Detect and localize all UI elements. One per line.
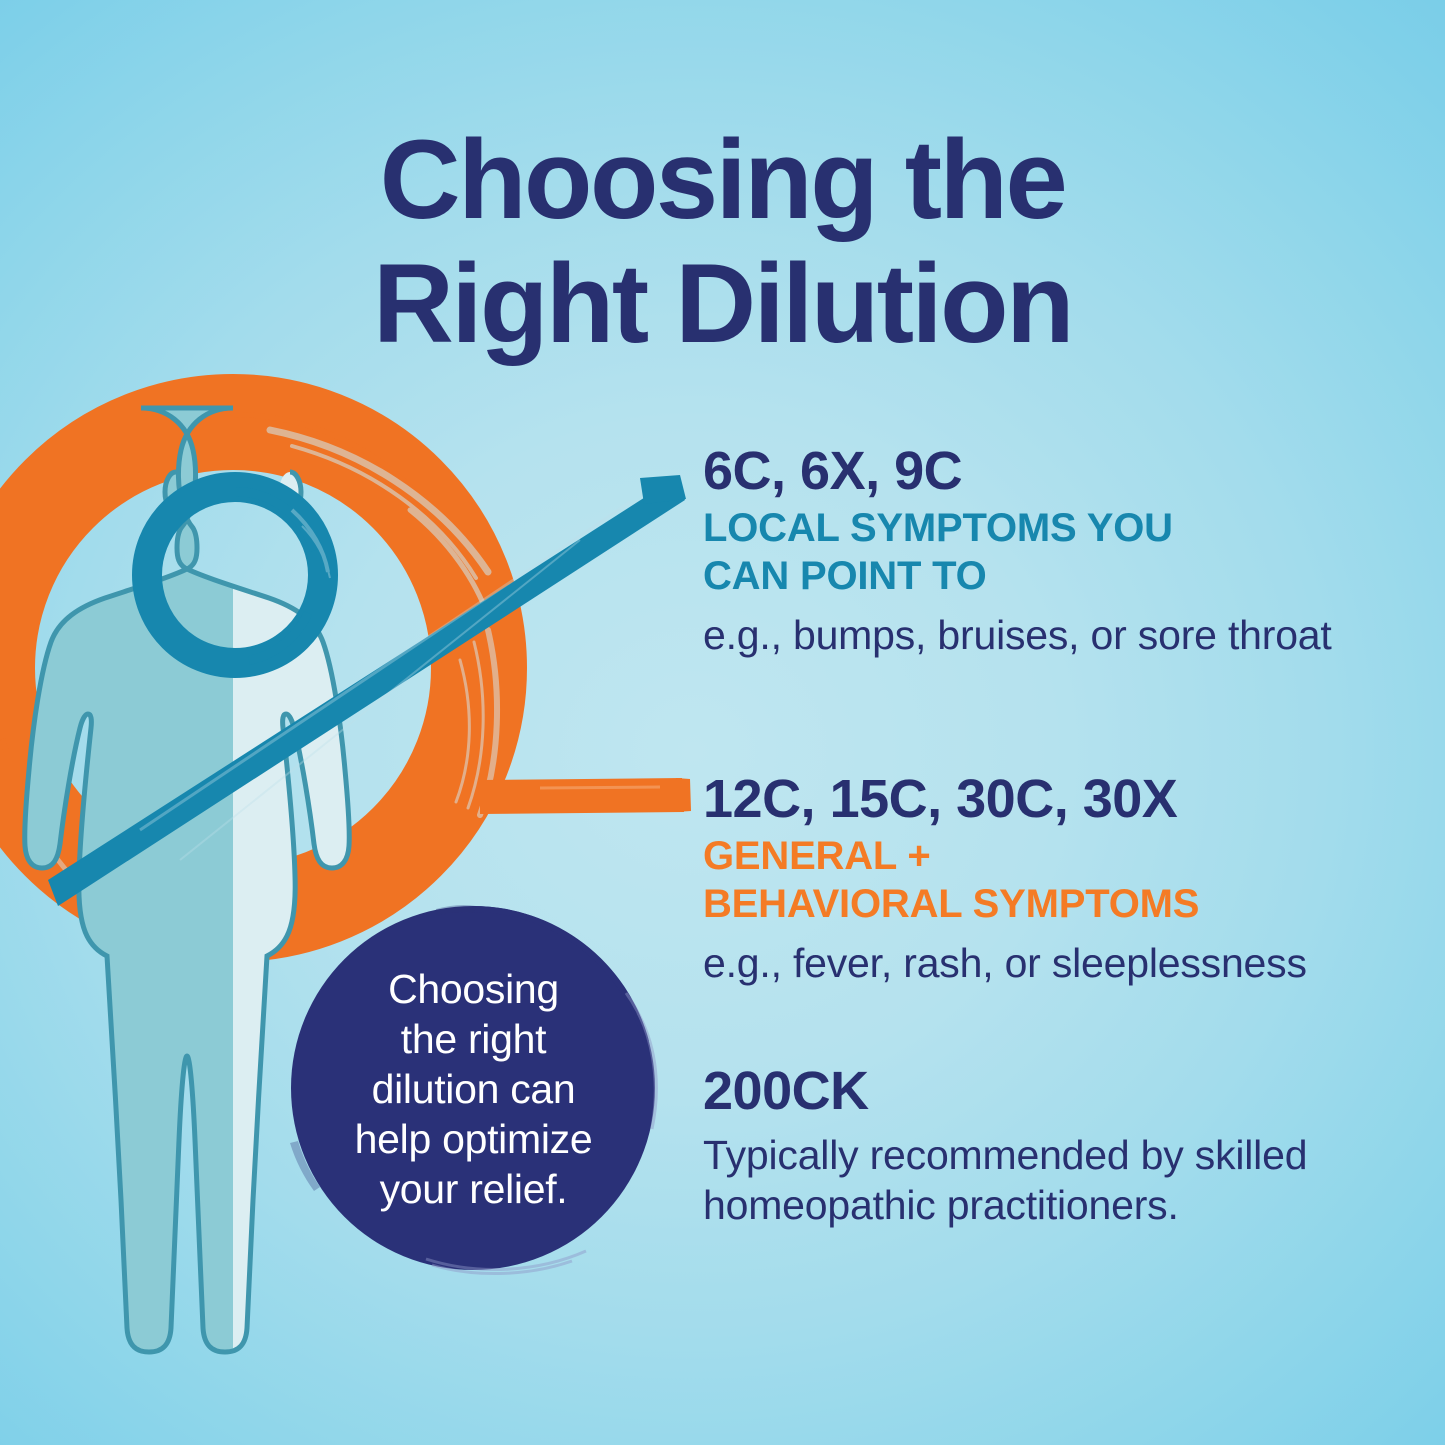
entry-1-category-line-2: CAN POINT TO — [703, 554, 1403, 598]
orange-brush-pointer-line — [480, 778, 691, 814]
infographic-poster: Choosing the Right Dilution Cho — [0, 0, 1445, 1445]
entry-3-example-line-1: Typically recommended by skilled — [703, 1130, 1403, 1180]
badge-line-3: dilution can — [372, 1064, 576, 1114]
entry-1-example: e.g., bumps, bruises, or sore throat — [703, 610, 1403, 660]
badge-line-1: Choosing — [388, 964, 559, 1014]
title-line-1: Choosing the — [0, 118, 1445, 242]
entry-2-potency: 12C, 15C, 30C, 30X — [703, 768, 1403, 830]
entry-1-potency: 6C, 6X, 9C — [703, 440, 1403, 502]
title-line-2: Right Dilution — [0, 242, 1445, 366]
entry-spacer-1 — [703, 660, 1403, 768]
dilution-entries-list: 6C, 6X, 9C LOCAL SYMPTOMS YOU CAN POINT … — [703, 440, 1403, 1230]
entry-2-example: e.g., fever, rash, or sleeplessness — [703, 938, 1403, 988]
page-title: Choosing the Right Dilution — [0, 118, 1445, 366]
badge-text: Choosing the right dilution can help opt… — [286, 901, 661, 1276]
badge-line-2: the right — [401, 1014, 546, 1064]
entry-3-example-line-2: homeopathic practitioners. — [703, 1180, 1403, 1230]
dilution-entry-3: 200CK Typically recommended by skilled h… — [703, 1060, 1403, 1230]
entry-3-potency: 200CK — [703, 1060, 1403, 1122]
dilution-entry-1: 6C, 6X, 9C LOCAL SYMPTOMS YOU CAN POINT … — [703, 440, 1403, 660]
entry-1-category-line-1: LOCAL SYMPTOMS YOU — [703, 506, 1403, 550]
highlight-badge: Choosing the right dilution can help opt… — [286, 901, 661, 1276]
badge-line-4: help optimize — [355, 1114, 593, 1164]
entry-2-category-line-2: BEHAVIORAL SYMPTOMS — [703, 882, 1403, 926]
dilution-entry-2: 12C, 15C, 30C, 30X GENERAL + BEHAVIORAL … — [703, 768, 1403, 988]
badge-line-5: your relief. — [380, 1164, 568, 1214]
entry-2-category-line-1: GENERAL + — [703, 834, 1403, 878]
entry-spacer-2 — [703, 988, 1403, 1060]
